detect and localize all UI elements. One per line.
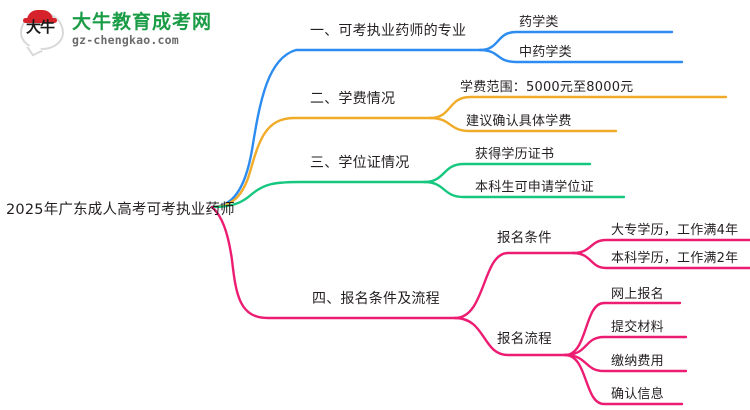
branch-1-leaf-1[interactable]: 药学类 [519,11,559,30]
branch-4-group-2-leaf-2[interactable]: 提交材料 [611,316,664,335]
branch-2-label[interactable]: 二、学费情况 [310,88,395,108]
mindmap-root-label[interactable]: 2025年广东成人高考可考执业药师 [6,198,235,219]
branch-2-leaf-2[interactable]: 建议确认具体学费 [466,110,572,129]
branch-4-group-2-label[interactable]: 报名流程 [497,327,552,347]
branch-3-label[interactable]: 三、学位证情况 [310,152,409,172]
branch-4-group-2-leaf-1[interactable]: 网上报名 [611,283,664,302]
mindmap-canvas: 大牛 大牛教育成考网 gz-chengkao.com [0,0,750,410]
branch-2-leaf-1[interactable]: 学费范围：5000元至8000元 [460,76,633,95]
branch-3-leaf-1[interactable]: 获得学历证书 [475,143,554,162]
branch-4-group-1-leaf-1[interactable]: 大专学历，工作满4年 [611,219,738,238]
branch-4-label[interactable]: 四、报名条件及流程 [312,288,440,308]
branch-3-leaf-2[interactable]: 本科生可申请学位证 [475,176,594,195]
branch-4-group-2-leaf-3[interactable]: 缴纳费用 [611,350,664,369]
branch-4-group-1-label[interactable]: 报名条件 [497,226,552,246]
branch-1-leaf-2[interactable]: 中药学类 [519,41,572,60]
branch-1-label[interactable]: 一、可考执业药师的专业 [310,20,466,40]
branch-4-group-1-leaf-2[interactable]: 本科学历，工作满2年 [611,247,738,266]
branch-4-group-2-leaf-4[interactable]: 确认信息 [611,383,664,402]
